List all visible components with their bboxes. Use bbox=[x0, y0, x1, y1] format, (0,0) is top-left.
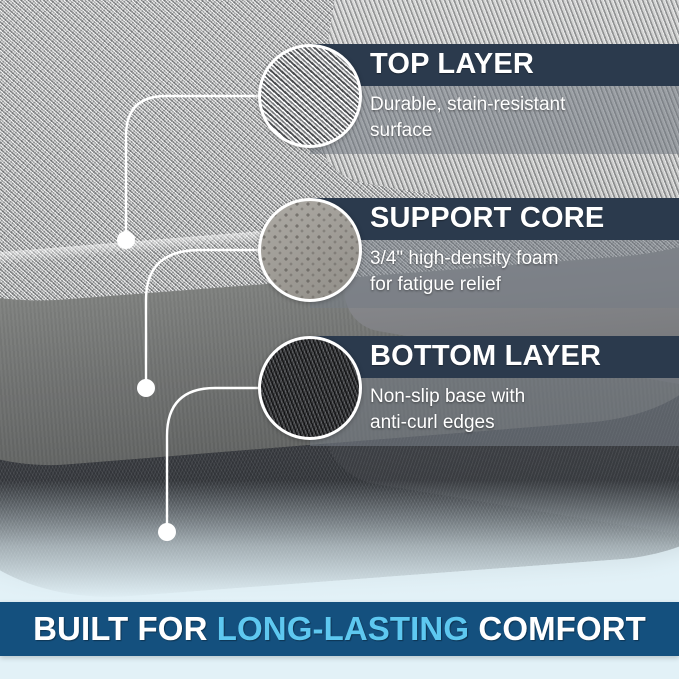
bottom-banner: BUILT FOR LONG-LASTING COMFORT bbox=[0, 602, 679, 656]
callout-heading: SUPPORT CORE bbox=[310, 198, 679, 240]
top-layer-texture-swatch-icon bbox=[258, 44, 362, 148]
callout-body: 3/4" high-density foam for fatigue relie… bbox=[310, 240, 679, 308]
leader-line-bottom-layer bbox=[167, 388, 258, 526]
callout-text-block: TOP LAYER Durable, stain-resistant surfa… bbox=[310, 44, 679, 154]
callout-body-line-2: for fatigue relief bbox=[370, 272, 679, 298]
leader-line-support-core bbox=[146, 250, 258, 382]
leader-dot-support-core bbox=[137, 379, 155, 397]
callout-body-line-2: anti-curl edges bbox=[370, 410, 679, 436]
callout-bottom-layer: BOTTOM LAYER Non-slip base with anti-cur… bbox=[258, 336, 679, 446]
leader-line-top-layer bbox=[126, 96, 258, 236]
callout-body: Durable, stain-resistant surface bbox=[310, 86, 679, 154]
callout-support-core: SUPPORT CORE 3/4" high-density foam for … bbox=[258, 198, 679, 308]
leader-dot-bottom-layer bbox=[158, 523, 176, 541]
callout-body-line-1: Non-slip base with bbox=[370, 384, 679, 410]
callout-body: Non-slip base with anti-curl edges bbox=[310, 378, 679, 446]
bottom-layer-texture-swatch-icon bbox=[258, 336, 362, 440]
callout-top-layer: TOP LAYER Durable, stain-resistant surfa… bbox=[258, 44, 679, 154]
leader-dot-top-layer bbox=[117, 231, 135, 249]
callout-body-line-1: Durable, stain-resistant bbox=[370, 92, 679, 118]
callout-text-block: BOTTOM LAYER Non-slip base with anti-cur… bbox=[310, 336, 679, 446]
callout-heading: TOP LAYER bbox=[310, 44, 679, 86]
callout-text-block: SUPPORT CORE 3/4" high-density foam for … bbox=[310, 198, 679, 308]
banner-text-part-1: BUILT FOR bbox=[33, 610, 217, 647]
support-core-texture-swatch-icon bbox=[258, 198, 362, 302]
callout-heading: BOTTOM LAYER bbox=[310, 336, 679, 378]
banner-text-part-2: COMFORT bbox=[469, 610, 646, 647]
banner-text-highlight: LONG-LASTING bbox=[217, 610, 469, 647]
infographic-canvas: TOP LAYER Durable, stain-resistant surfa… bbox=[0, 0, 679, 679]
callout-body-line-1: 3/4" high-density foam bbox=[370, 246, 679, 272]
banner-text: BUILT FOR LONG-LASTING COMFORT bbox=[33, 612, 646, 646]
callout-body-line-2: surface bbox=[370, 118, 679, 144]
